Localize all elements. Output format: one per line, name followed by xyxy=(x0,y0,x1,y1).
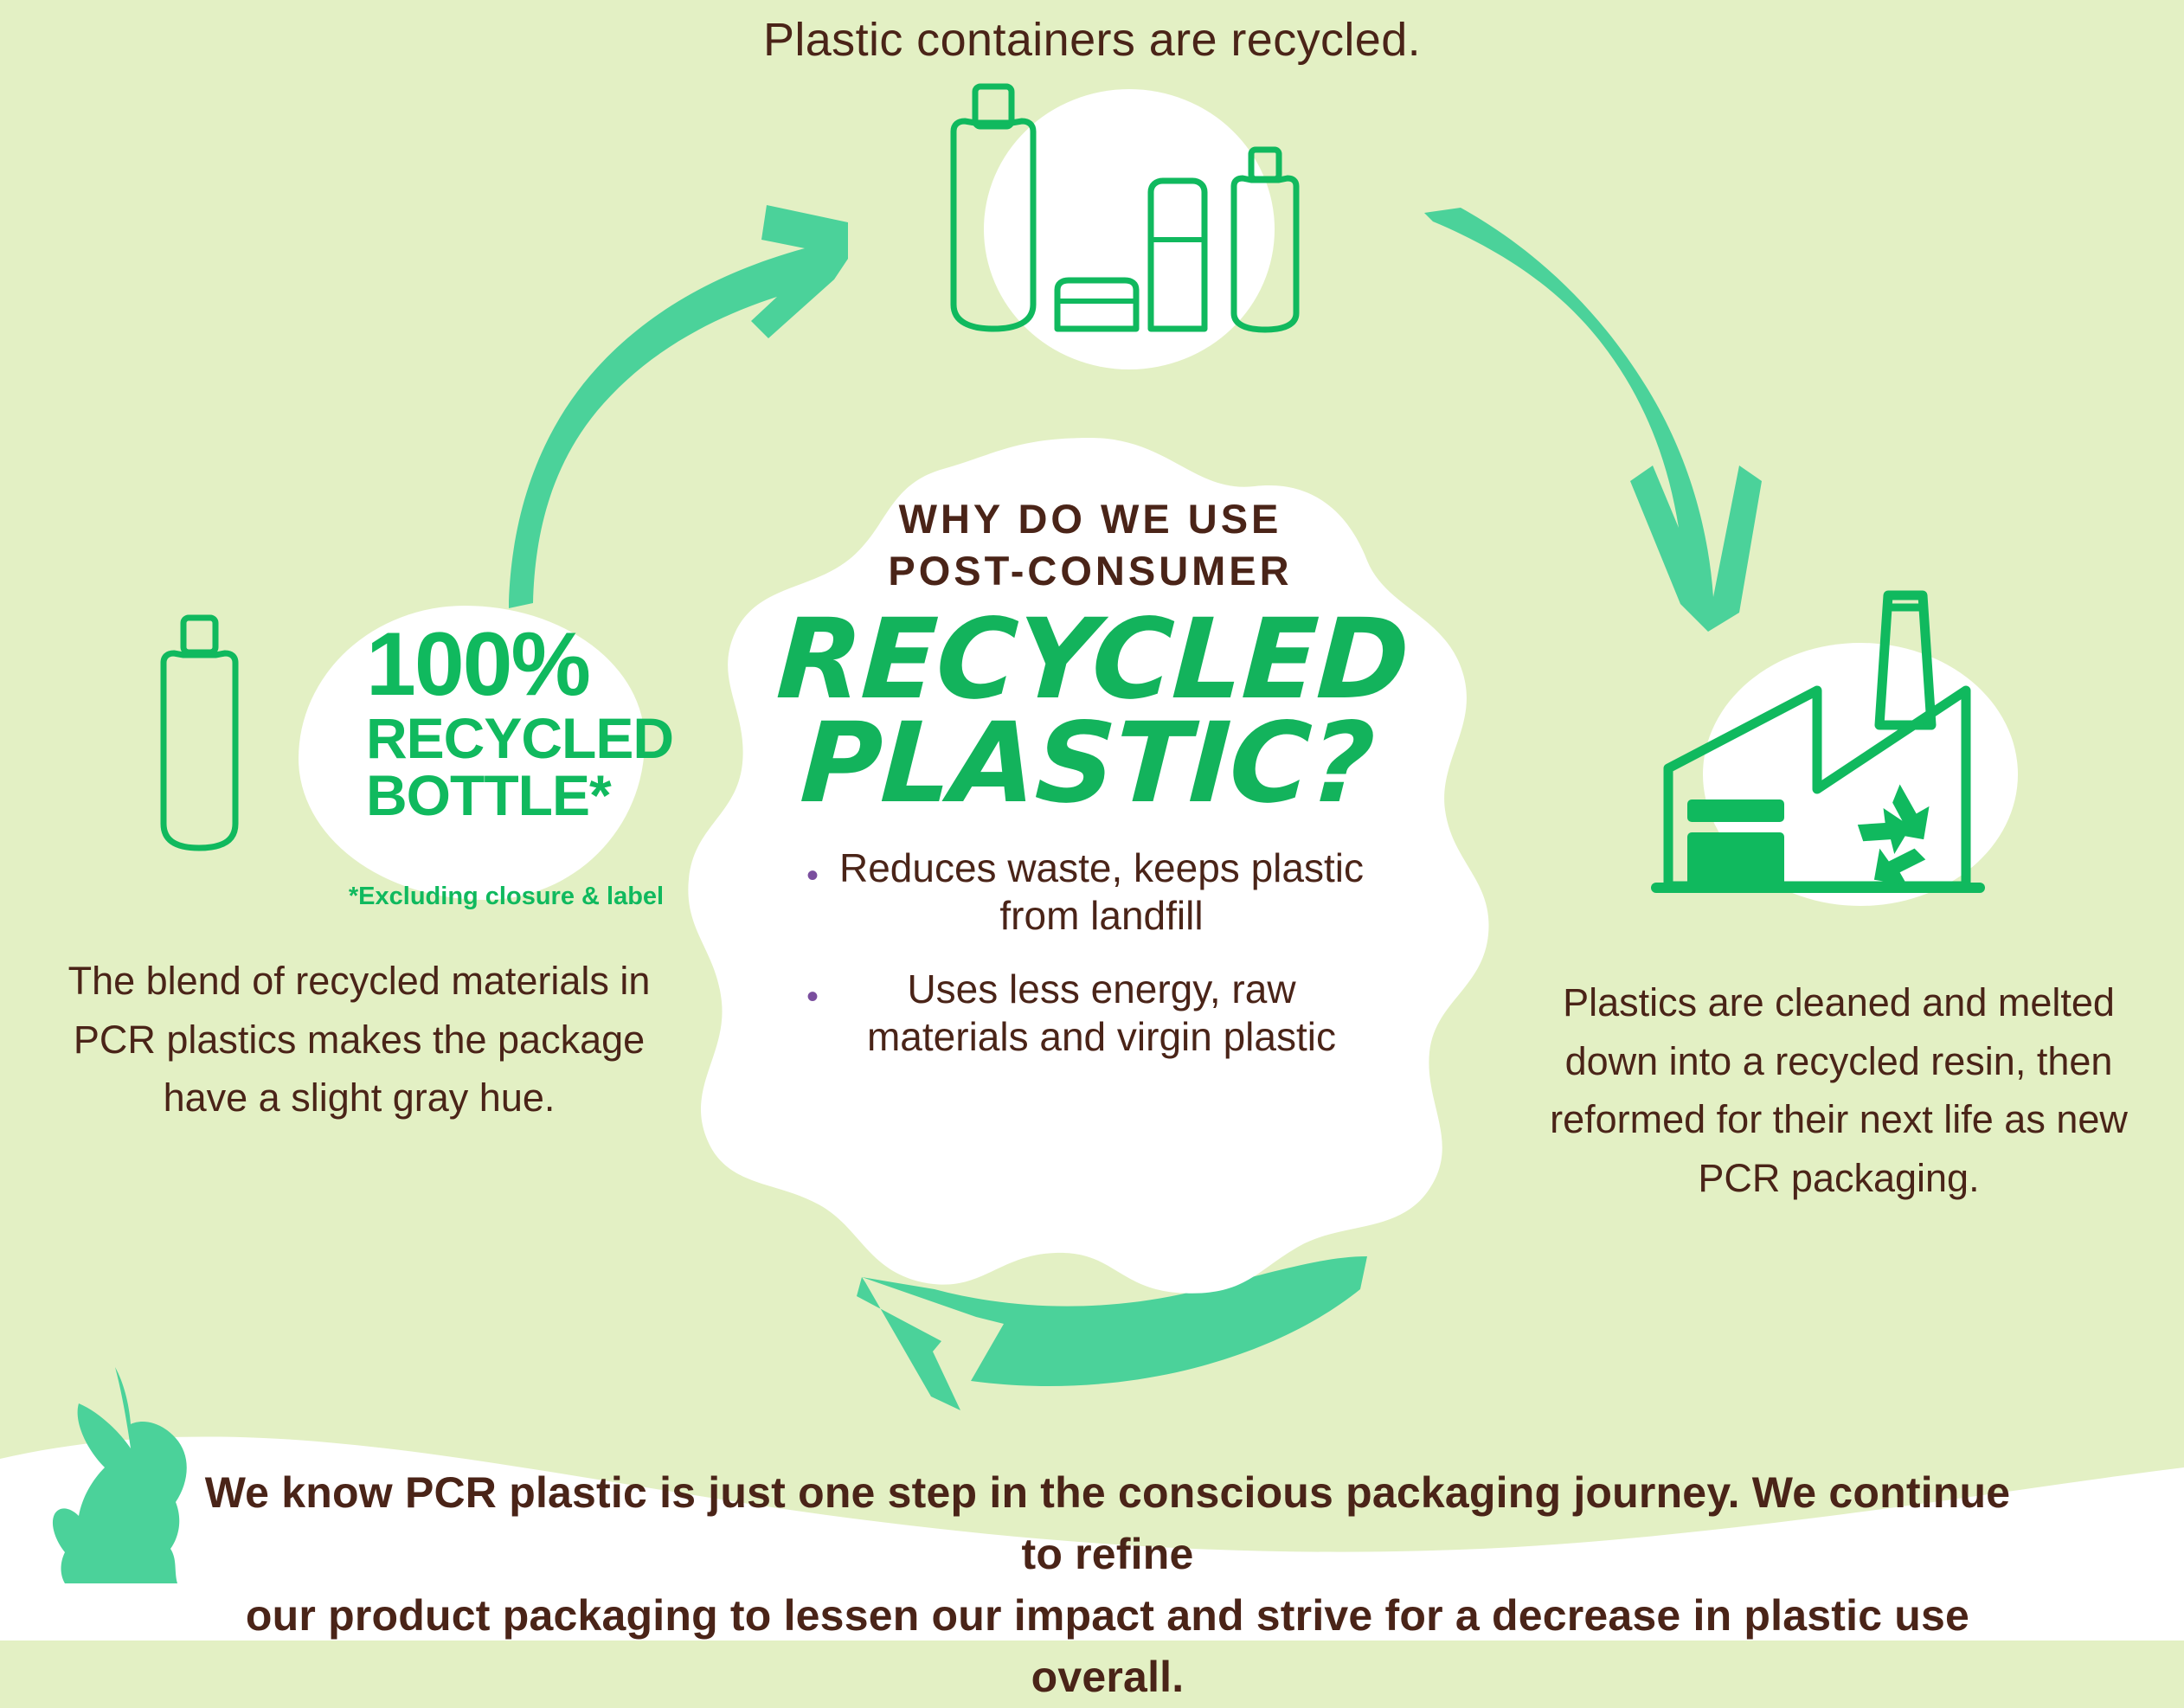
badge-script-line2: PLASTIC? xyxy=(769,713,1405,815)
badge-kicker-line1: WHY DO WE USE xyxy=(888,493,1292,545)
bullet-dot-icon: • xyxy=(806,979,819,1014)
bunny-silhouette-icon xyxy=(48,1358,221,1583)
recycled-bottle-badge: 100% RECYCLED BOTTLE* *Excluding closure… xyxy=(151,597,636,934)
infographic-canvas: Plastic containers are recycled. xyxy=(0,0,2184,1641)
plastic-bottles-illustration xyxy=(913,69,1320,372)
bottle-outline-icon xyxy=(151,613,264,872)
bullet-dot-icon: • xyxy=(806,858,819,893)
badge-kicker: WHY DO WE USE POST-CONSUMER xyxy=(888,493,1292,597)
badge-text-block: 100% RECYCLED BOTTLE* xyxy=(366,623,660,822)
top-caption: Plastic containers are recycled. xyxy=(0,13,2184,67)
left-paragraph: The blend of recycled materials in PCR p… xyxy=(48,952,671,1127)
badge-recycled-label: RECYCLED xyxy=(366,711,660,765)
bullet-text: Reduces waste, keeps plastic from landfi… xyxy=(829,844,1374,940)
badge-content: WHY DO WE USE POST-CONSUMER RECYCLED PLA… xyxy=(684,433,1497,1298)
bottom-banner-line1: We know PCR plastic is just one step in … xyxy=(199,1462,2016,1585)
bottom-banner: We know PCR plastic is just one step in … xyxy=(199,1462,2016,1708)
bottom-banner-line2: our product packaging to lessen our impa… xyxy=(199,1585,2016,1708)
bullet-text: Uses less energy, raw materials and virg… xyxy=(829,966,1374,1061)
list-item: • Reduces waste, keeps plastic from land… xyxy=(779,844,1402,940)
badge-script-title: RECYCLED PLASTIC? xyxy=(769,609,1411,815)
center-badge: WHY DO WE USE POST-CONSUMER RECYCLED PLA… xyxy=(684,433,1497,1298)
factory-recycling-icon xyxy=(1644,588,2077,909)
badge-bottle-label: BOTTLE* xyxy=(366,768,660,822)
badge-percent: 100% xyxy=(366,623,660,708)
right-paragraph: Plastics are cleaned and melted down int… xyxy=(1523,973,2155,1207)
badge-kicker-line2: POST-CONSUMER xyxy=(888,545,1292,597)
list-item: • Uses less energy, raw materials and vi… xyxy=(779,966,1402,1061)
badge-bullet-list: • Reduces waste, keeps plastic from land… xyxy=(779,844,1402,1088)
badge-footnote: *Excluding closure & label xyxy=(324,883,688,911)
